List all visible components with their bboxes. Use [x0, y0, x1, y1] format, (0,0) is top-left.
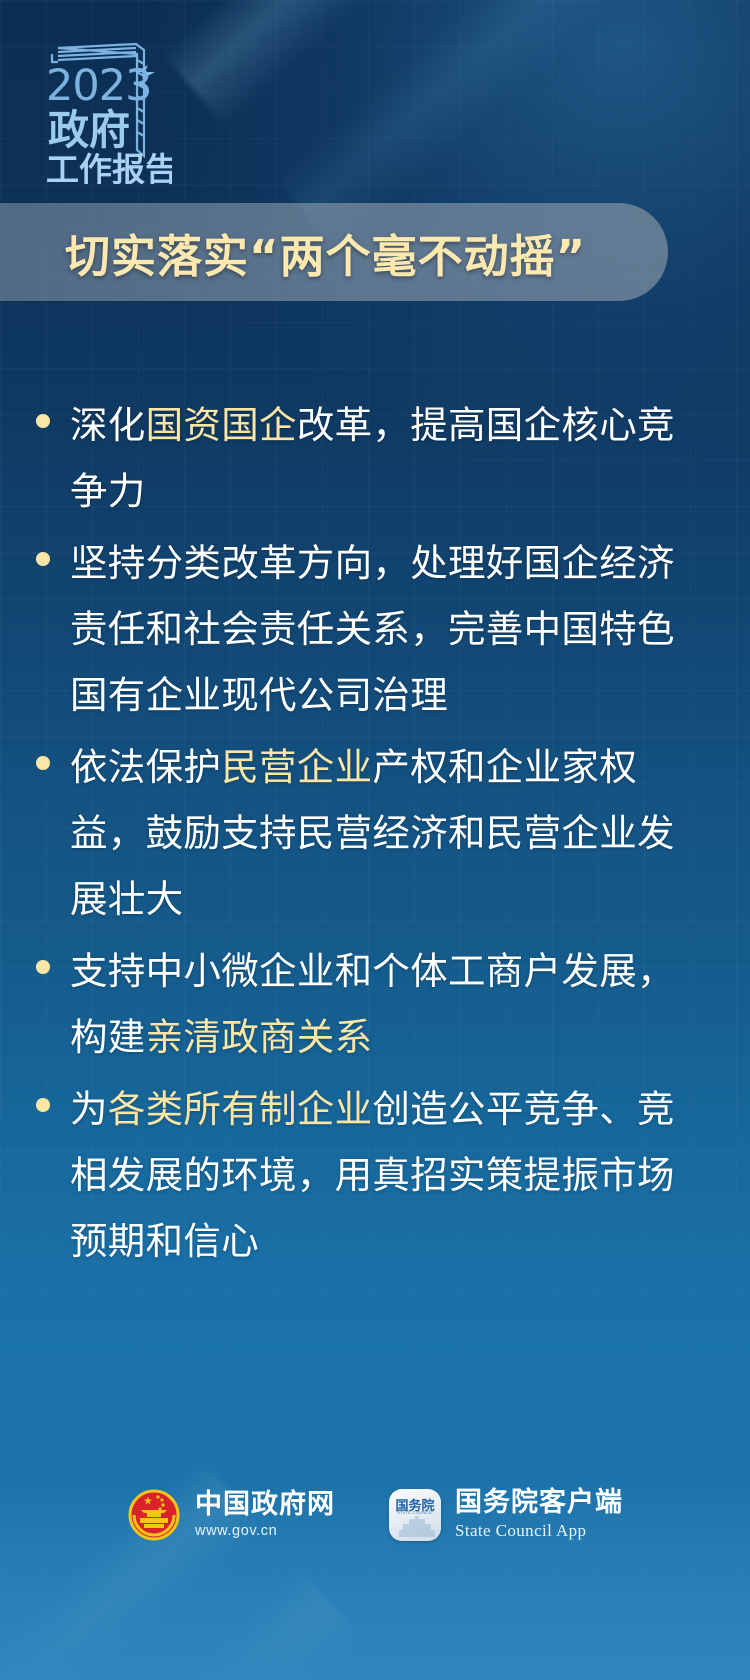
- report-logo: 2023 政府 工作报告: [40, 38, 172, 184]
- list-item: 坚持分类改革方向，处理好国企经济责任和社会责任关系，完善中国特色国有企业现代公司…: [36, 530, 708, 728]
- highlighted-phrase: 各类所有制企业: [108, 1087, 373, 1131]
- title-banner: 切实落实“两个毫不动摇”: [0, 203, 668, 301]
- bullet-dot-icon: [36, 414, 50, 428]
- highlighted-phrase: 民营企业: [221, 745, 372, 789]
- list-item-text: 深化国资国企改革，提高国企核心竞争力: [70, 392, 708, 524]
- list-item: 依法保护民营企业产权和企业家权益，鼓励支持民营经济和民营企业发展壮大: [36, 734, 708, 932]
- gov-website-url: www.gov.cn: [195, 1523, 335, 1539]
- state-council-app-icon: 国务院 STATE COUNCIL: [389, 1489, 441, 1541]
- text-segment: 坚持分类改革方向，处理好国企经济责任和社会责任关系，完善中国特色国有企业现代公司…: [70, 541, 675, 717]
- state-council-app-name-en: State Council App: [455, 1521, 623, 1541]
- list-item-text: 依法保护民营企业产权和企业家权益，鼓励支持民营经济和民营企业发展壮大: [70, 734, 708, 932]
- state-council-app-block[interactable]: 国务院 STATE COUNCIL 国务院客户端 State Council A…: [389, 1489, 623, 1541]
- text-segment: 依法保护: [70, 745, 221, 789]
- app-icon-label-en: STATE COUNCIL: [389, 1510, 441, 1515]
- footer: 中国政府网 www.gov.cn 国务院 STATE COUNCIL 国务: [0, 1488, 750, 1542]
- bullet-dot-icon: [36, 960, 50, 974]
- national-emblem-icon: [127, 1488, 181, 1542]
- logo-line1: 政府: [48, 106, 130, 154]
- text-segment: 为: [70, 1087, 108, 1131]
- poster-canvas: 2023 政府 工作报告 切实落实“两个毫不动摇” 深化国资国企改革，提高国企核…: [0, 0, 750, 1680]
- list-item-text: 坚持分类改革方向，处理好国企经济责任和社会责任关系，完善中国特色国有企业现代公司…: [70, 530, 708, 728]
- gov-website-block[interactable]: 中国政府网 www.gov.cn: [127, 1488, 335, 1542]
- bullet-dot-icon: [36, 756, 50, 770]
- book-icon: 2023 政府 工作报告: [40, 38, 172, 184]
- page-title: 切实落实“两个毫不动摇”: [65, 220, 586, 285]
- bullet-dot-icon: [36, 1098, 50, 1112]
- highlighted-phrase: 亲清政商关系: [146, 1015, 373, 1059]
- logo-line2: 工作报告: [46, 150, 172, 184]
- bullet-list: 深化国资国企改革，提高国企核心竞争力坚持分类改革方向，处理好国企经济责任和社会责…: [36, 392, 708, 1280]
- highlighted-phrase: 国资国企: [146, 403, 297, 447]
- list-item: 为各类所有制企业创造公平竞争、竞相发展的环境，用真招实策提振市场预期和信心: [36, 1076, 708, 1274]
- list-item-text: 为各类所有制企业创造公平竞争、竞相发展的环境，用真招实策提振市场预期和信心: [70, 1076, 708, 1274]
- gov-website-name: 中国政府网: [195, 1491, 335, 1519]
- great-hall-icon: [397, 1516, 437, 1538]
- bullet-dot-icon: [36, 552, 50, 566]
- list-item-text: 支持中小微企业和个体工商户发展，构建亲清政商关系: [70, 938, 708, 1070]
- list-item: 支持中小微企业和个体工商户发展，构建亲清政商关系: [36, 938, 708, 1070]
- logo-year: 2023: [46, 61, 151, 111]
- list-item: 深化国资国企改革，提高国企核心竞争力: [36, 392, 708, 524]
- text-segment: 深化: [70, 403, 146, 447]
- state-council-app-name: 国务院客户端: [455, 1489, 623, 1517]
